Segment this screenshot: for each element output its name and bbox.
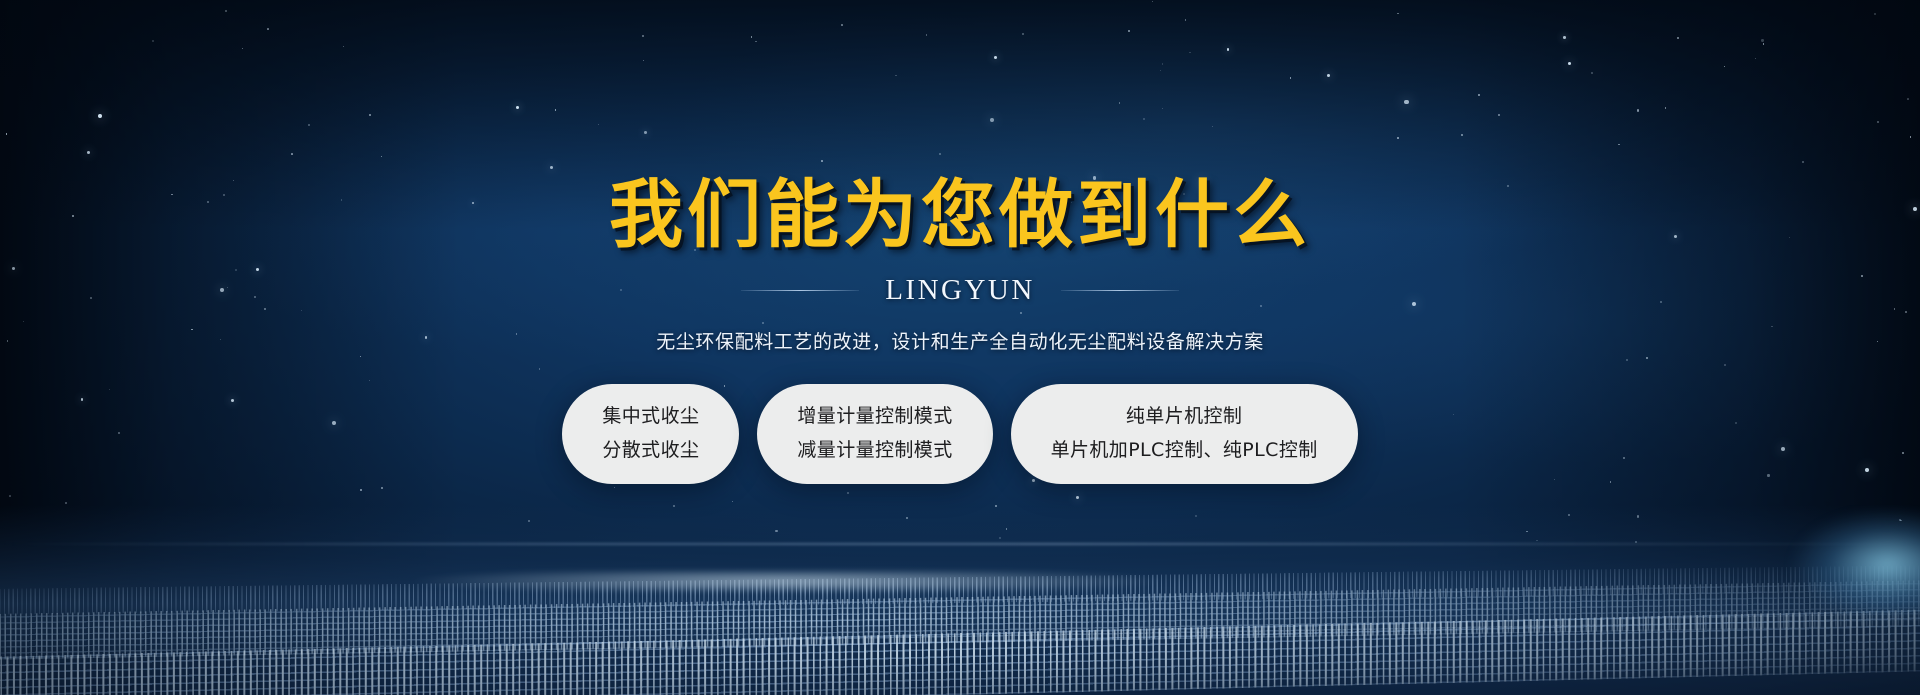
- feature-pill-control-system[interactable]: 纯单片机控制 单片机加PLC控制、纯PLC控制: [1011, 384, 1358, 484]
- banner-content: 我们能为您做到什么 LINGYUN 无尘环保配料工艺的改进，设计和生产全自动化无…: [0, 0, 1920, 695]
- divider-line-right: [1061, 290, 1179, 291]
- feature-pill-dust-collection[interactable]: 集中式收尘 分散式收尘: [562, 384, 739, 484]
- divider-line-left: [741, 290, 859, 291]
- pill-line-primary: 集中式收尘: [602, 406, 699, 428]
- hero-banner: 我们能为您做到什么 LINGYUN 无尘环保配料工艺的改进，设计和生产全自动化无…: [0, 0, 1920, 695]
- pill-line-secondary: 单片机加PLC控制、纯PLC控制: [1051, 440, 1318, 462]
- pill-line-secondary: 分散式收尘: [602, 440, 699, 462]
- brand-name-en: LINGYUN: [885, 274, 1035, 307]
- banner-headline: 我们能为您做到什么: [609, 178, 1311, 252]
- feature-pill-metering-mode[interactable]: 增量计量控制模式 减量计量控制模式: [757, 384, 992, 484]
- pill-line-primary: 增量计量控制模式: [797, 406, 952, 428]
- feature-pill-group: 集中式收尘 分散式收尘 增量计量控制模式 减量计量控制模式 纯单片机控制 单片机…: [562, 384, 1357, 484]
- banner-tagline: 无尘环保配料工艺的改进，设计和生产全自动化无尘配料设备解决方案: [656, 327, 1264, 354]
- pill-line-secondary: 减量计量控制模式: [797, 440, 952, 462]
- pill-line-primary: 纯单片机控制: [1126, 406, 1242, 428]
- brand-subtitle-row: LINGYUN: [741, 274, 1179, 307]
